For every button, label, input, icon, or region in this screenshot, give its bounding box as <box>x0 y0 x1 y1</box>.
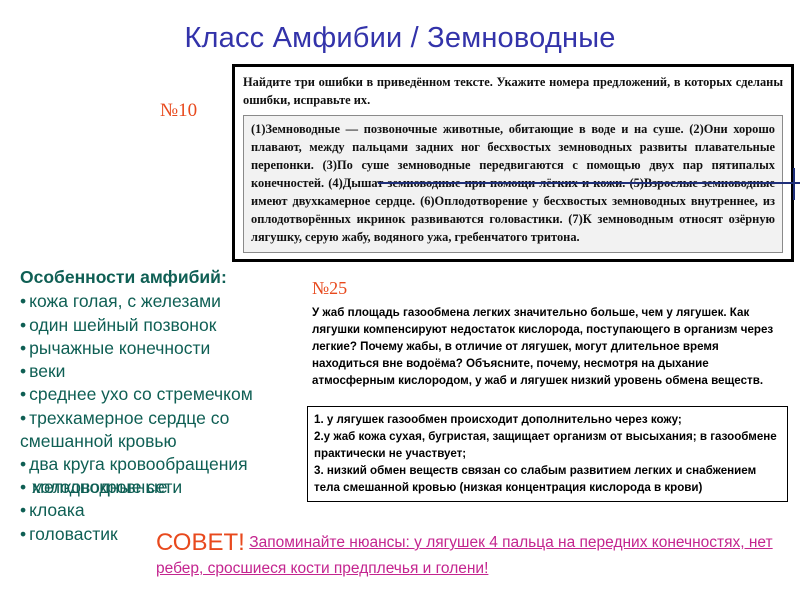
bullet-icon: • <box>20 524 26 544</box>
task-25-answer-box: 1. у лягушек газообмен происходит дополн… <box>307 406 788 502</box>
list-item-label: два круга кровообращения <box>29 454 247 474</box>
bullet-icon: • <box>20 291 26 311</box>
list-item: •веки <box>20 360 312 383</box>
task-25-question: У жаб площадь газообмена легких значител… <box>312 305 782 390</box>
bullet-icon: • <box>20 454 26 474</box>
slide-canvas: Класс Амфибии / Земноводные №10 Найдите … <box>0 0 800 600</box>
advice-text: Запоминайте нюансы: у лягушек 4 пальца н… <box>156 534 773 577</box>
bullet-icon: • <box>20 338 26 358</box>
list-item-label: веки <box>29 361 65 381</box>
bullet-icon: • <box>20 361 26 381</box>
list-item: •трехкамерное сердце со смешанной кровью <box>20 407 312 454</box>
list-item-label: среднее ухо со стремечком <box>29 384 253 404</box>
list-item-label: кожа голая, с железами <box>29 291 221 311</box>
list-item: •два круга кровообращения <box>20 453 312 476</box>
list-item: •один шейный позвонок <box>20 314 312 337</box>
bullet-icon: • <box>20 476 26 499</box>
list-item-label: клоака <box>29 500 85 520</box>
list-item-label: трехкамерное сердце со смешанной кровью <box>20 408 229 451</box>
list-item: •кожа голая, с железами <box>20 290 312 313</box>
bullet-icon: • <box>20 384 26 404</box>
list-item: •клоака <box>20 499 312 522</box>
list-item-overlapped: • холоднокровные мелководные сети <box>20 476 312 499</box>
task-10-passage: (1)Земноводные — позвоночные животные, о… <box>251 121 775 247</box>
bullet-icon: • <box>20 408 26 428</box>
bullet-icon: • <box>20 500 26 520</box>
answer-row: 3. низкий обмен веществ связан со слабым… <box>314 462 781 496</box>
features-list-block: Особенности амфибий: •кожа голая, с желе… <box>20 266 312 546</box>
task-10-block: Найдите три ошибки в приведённом тексте.… <box>232 64 794 262</box>
answer-row: 1. у лягушек газообмен происходит дополн… <box>314 411 781 428</box>
navy-vertical-tick <box>793 168 795 200</box>
list-item-label: один шейный позвонок <box>29 315 216 335</box>
advice-block: СОВЕТ! Запоминайте нюансы: у лягушек 4 п… <box>156 530 796 582</box>
navy-horizontal-rule <box>378 182 800 184</box>
task-10-passage-box: (1)Земноводные — позвоночные животные, о… <box>243 115 783 253</box>
task-10-number-label: №10 <box>160 100 197 122</box>
page-title: Класс Амфибии / Земноводные <box>0 22 800 55</box>
bullet-icon: • <box>20 315 26 335</box>
features-heading: Особенности амфибий: <box>20 266 312 289</box>
overlapped-label-b: мелководные сети <box>32 476 182 499</box>
list-item-label: головастик <box>29 524 118 544</box>
advice-label: СОВЕТ! <box>156 529 245 556</box>
task-25-number-label: №25 <box>312 278 347 299</box>
list-item-label: рычажные конечности <box>29 338 210 358</box>
list-item: •рычажные конечности <box>20 337 312 360</box>
list-item: •среднее ухо со стремечком <box>20 383 312 406</box>
task-10-prompt: Найдите три ошибки в приведённом тексте.… <box>243 74 783 109</box>
answer-row: 2.у жаб кожа сухая, бугристая, защищает … <box>314 428 781 462</box>
